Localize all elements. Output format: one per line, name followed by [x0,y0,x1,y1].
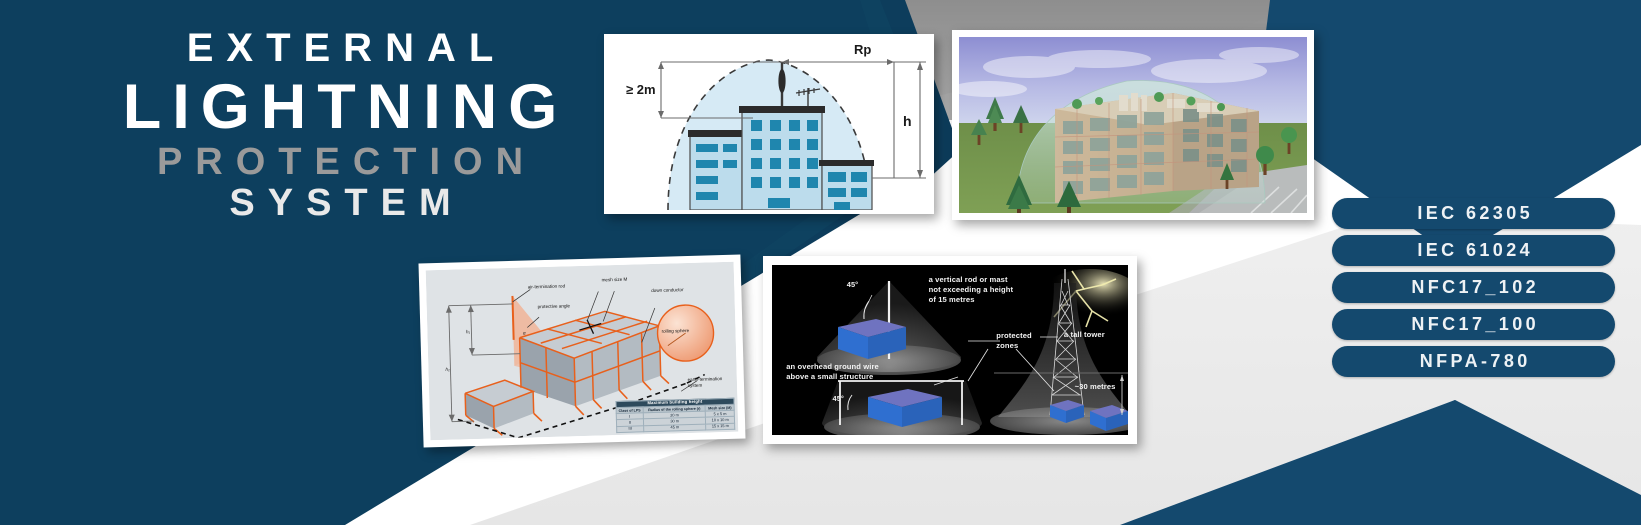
standard-badge-iec-62305[interactable]: IEC 62305 [1332,198,1615,229]
label-angle-top: 45° [847,280,858,290]
label-tall-tower: a tall tower [1064,330,1105,340]
air-termination-rod [512,296,513,340]
protection-radius-diagram: ≥ 2m Rp [608,38,930,210]
standard-badge-nfc17-102[interactable]: NFC17_102 [1332,272,1615,303]
headline-line-external: EXTERNAL [60,28,620,69]
standard-badge-nfc17-100[interactable]: NFC17_100 [1332,309,1615,340]
label-down-conductor: down conductor [651,287,684,294]
cell-class: III [617,426,644,433]
label-air-termination-rod: air-termination rod [528,283,565,290]
cell-mesh: 15 x 15 m [706,423,735,430]
image-card-building-render [952,30,1314,220]
building-left-roof [688,130,744,137]
building-render-svg [959,37,1307,213]
label-h1: h₁ [466,329,470,335]
air-terminal-head [778,69,785,93]
headline-line-protection: PROTECTION [60,143,620,182]
label-h2: h₂ [445,367,449,373]
standards-badge-list: IEC 62305 IEC 61024 NFC17_102 NFC17_100 … [1332,198,1615,377]
headline-line-lightning: LIGHTNING [60,75,620,139]
label-protective-angle: protective angle [538,304,571,311]
label-vertical-rod: a vertical rod or mast not exceeding a h… [929,275,1013,305]
lps-mesh-method-diagram: air-termination rod protective angle mes… [426,262,739,441]
label-mesh-size: mesh size M [601,277,627,283]
lightning-protection-banner: EXTERNAL LIGHTNING PROTECTION SYSTEM [0,0,1641,525]
standard-badge-iec-61024[interactable]: IEC 61024 [1332,235,1615,266]
image-card-mesh-method: air-termination rod protective angle mes… [418,255,745,448]
image-card-protected-zones: 45° a vertical rod or mast not exceeding… [763,256,1137,444]
standard-badge-nfpa-780[interactable]: NFPA-780 [1332,346,1615,377]
building-right-roof [819,160,874,166]
building-center-roof [739,106,825,113]
label-angle-bottom: 45° [833,394,844,404]
cell-radius: 45 m [644,424,707,432]
label-protected-zones: protected zones [996,331,1032,351]
headline-line-system: SYSTEM [60,184,620,223]
banner-headline: EXTERNAL LIGHTNING PROTECTION SYSTEM [60,28,620,223]
label-overhead-wire: an overhead ground wire above a small st… [786,362,879,382]
label-tower-height: ~30 metres [1075,382,1116,392]
label-rolling-sphere: rolling sphere [661,328,689,335]
label-alpha: α [523,330,526,336]
label-building-height: h [903,113,912,129]
image-card-protection-radius: ≥ 2m Rp [604,34,934,214]
protection-radius-svg: ≥ 2m Rp [608,38,930,210]
label-earth-termination: earth-termination system [687,376,722,388]
lps-class-table: Maximum building height Class of LPS Rad… [615,397,735,433]
label-min-height: ≥ 2m [626,82,656,97]
label-rp: Rp [854,42,871,57]
protected-zones-diagram: 45° a vertical rod or mast not exceeding… [772,265,1128,435]
3d-building-protection-dome-render [959,37,1307,213]
